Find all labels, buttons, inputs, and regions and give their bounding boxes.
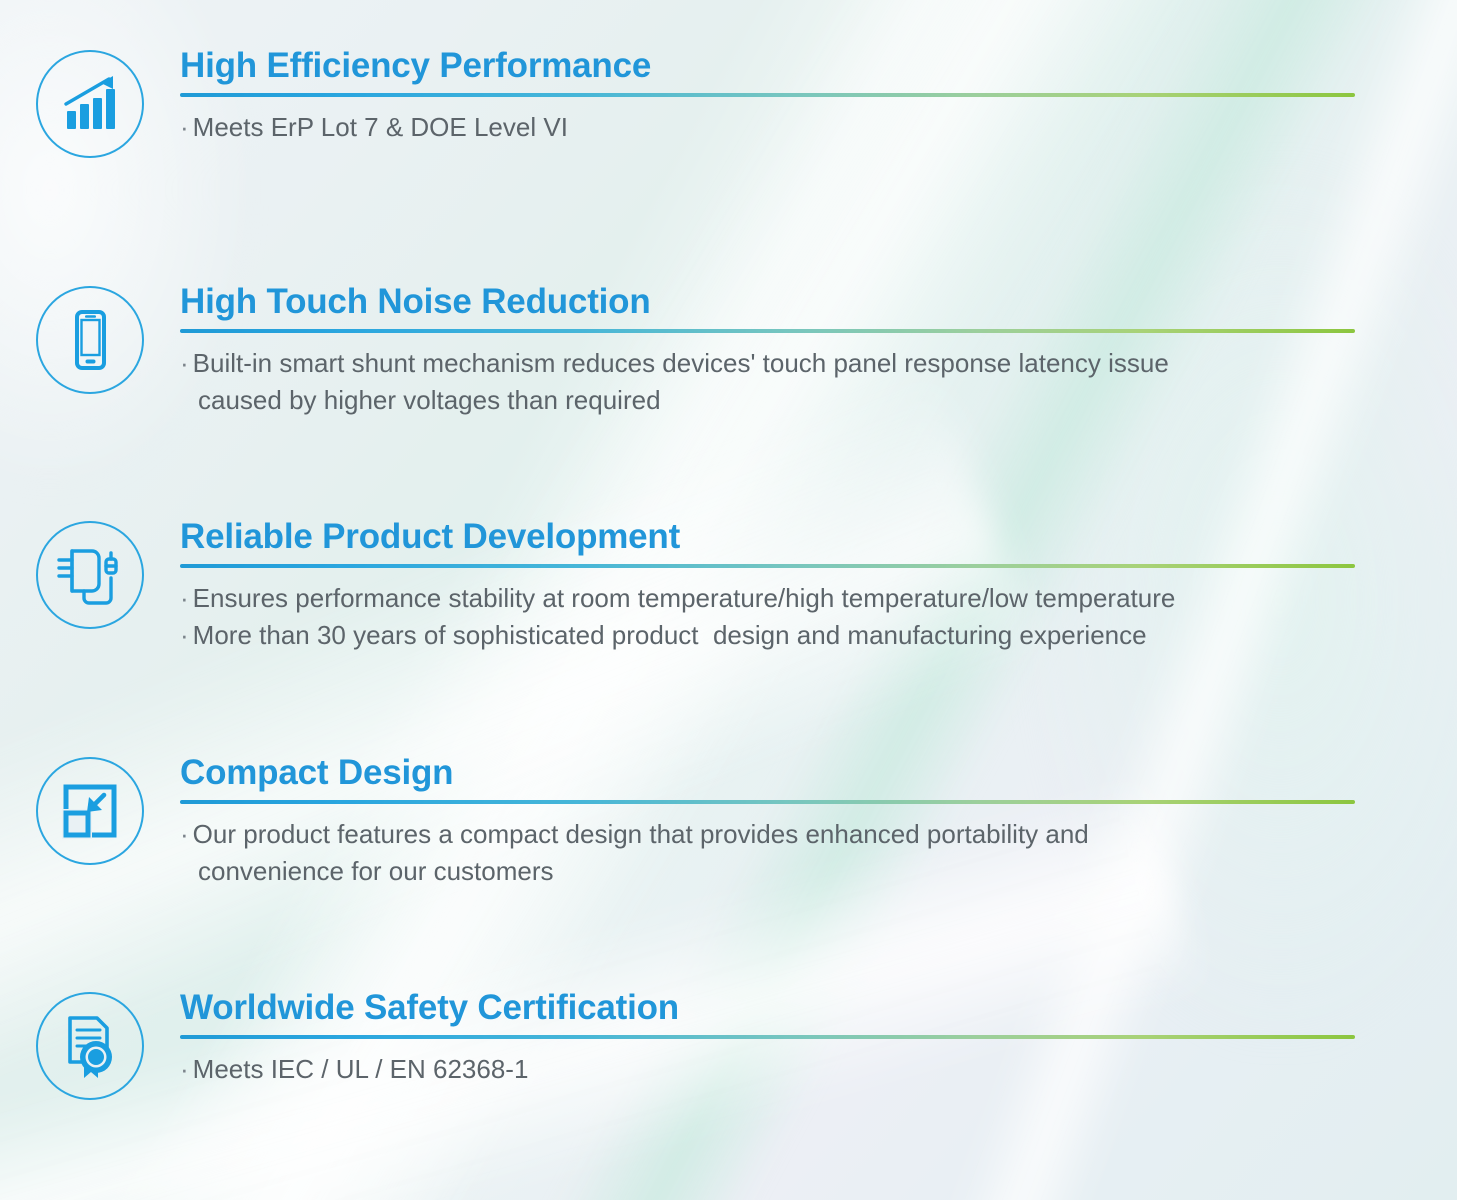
feature-bullet: ·Ensures performance stability at room t… [180,580,1377,617]
feature-item-reliable-product-development: Reliable Product Development ·Ensures pe… [0,517,1457,654]
feature-icon-wrap [0,988,180,1100]
bullet-text-continuation: caused by higher voltages than required [180,382,1377,419]
feature-text-block: Worldwide Safety Certification ·Meets IE… [180,988,1457,1088]
feature-icon-wrap [0,282,180,394]
certificate-award-icon [36,992,144,1100]
bar-chart-growth-icon [36,50,144,158]
feature-text-block: High Efficiency Performance ·Meets ErP L… [180,46,1457,146]
feature-title: High Efficiency Performance [180,46,1377,85]
feature-icon-wrap [0,517,180,629]
feature-icon-wrap [0,753,180,865]
feature-item-high-touch-noise-reduction: High Touch Noise Reduction ·Built-in sma… [0,282,1457,419]
feature-bullet: ·Meets ErP Lot 7 & DOE Level VI [180,109,1377,146]
feature-text-block: Reliable Product Development ·Ensures pe… [180,517,1457,654]
power-adapter-icon [36,521,144,629]
feature-title: Worldwide Safety Certification [180,988,1377,1027]
feature-title: High Touch Noise Reduction [180,282,1377,321]
bullet-text: Meets ErP Lot 7 & DOE Level VI [193,112,568,142]
bullet-text: Built-in smart shunt mechanism reduces d… [193,348,1169,378]
bullet-marker: · [180,1054,189,1084]
bullet-text: Meets IEC / UL / EN 62368-1 [193,1054,529,1084]
feature-title: Reliable Product Development [180,517,1377,556]
feature-bullet: ·Our product features a compact design t… [180,816,1377,890]
feature-bullet: ·More than 30 years of sophisticated pro… [180,617,1377,654]
feature-divider [180,564,1355,568]
bullet-marker: · [180,620,189,650]
feature-divider [180,800,1355,804]
bullet-text: Our product features a compact design th… [193,819,1089,849]
feature-divider [180,1035,1355,1039]
feature-icon-wrap [0,46,180,158]
bullet-text-continuation: convenience for our customers [180,853,1377,890]
shrink-square-icon [36,757,144,865]
bullet-text: Ensures performance stability at room te… [193,583,1176,613]
feature-divider [180,329,1355,333]
feature-item-compact-design: Compact Design ·Our product features a c… [0,753,1457,890]
feature-bullet: ·Built-in smart shunt mechanism reduces … [180,345,1377,419]
feature-bullet: ·Meets IEC / UL / EN 62368-1 [180,1051,1377,1088]
feature-item-high-efficiency-performance: High Efficiency Performance ·Meets ErP L… [0,46,1457,158]
feature-highlights-page: High Efficiency Performance ·Meets ErP L… [0,0,1457,1200]
feature-text-block: High Touch Noise Reduction ·Built-in sma… [180,282,1457,419]
feature-divider [180,93,1355,97]
bullet-text: More than 30 years of sophisticated prod… [193,620,1147,650]
bullet-marker: · [180,819,189,849]
feature-text-block: Compact Design ·Our product features a c… [180,753,1457,890]
bullet-marker: · [180,348,189,378]
bullet-marker: · [180,583,189,613]
feature-item-worldwide-safety-certification: Worldwide Safety Certification ·Meets IE… [0,988,1457,1100]
feature-title: Compact Design [180,753,1377,792]
smartphone-icon [36,286,144,394]
bullet-marker: · [180,112,189,142]
